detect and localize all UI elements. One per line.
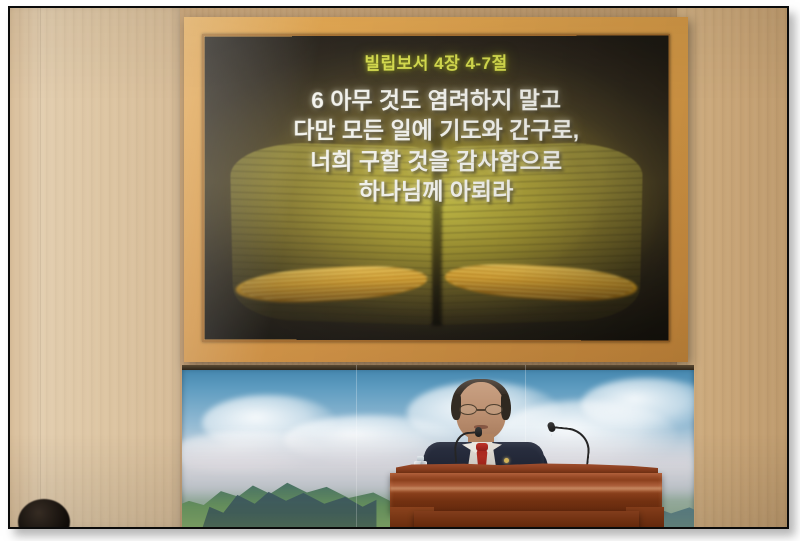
pulpit-highlight <box>390 487 662 492</box>
projection-screen-frame: 빌립보서 4장 4-7절 6 아무 것도 염려하지 말고 다만 모든 일에 기도… <box>184 17 688 362</box>
mural-panel-seam <box>356 365 357 527</box>
slide-text-block: 빌립보서 4장 4-7절 6 아무 것도 염려하지 말고 다만 모든 일에 기도… <box>205 36 669 341</box>
microphone-capsule <box>475 427 482 437</box>
slide-body-line: 6 아무 것도 염려하지 말고 <box>219 85 655 116</box>
slide-body-line: 너희 구할 것을 감사함으로 <box>219 146 655 176</box>
slide-body-line: 다만 모든 일에 기도와 간구로, <box>219 115 655 146</box>
speaker-figure <box>418 382 550 474</box>
lens-right <box>485 404 503 415</box>
glasses-bridge <box>477 409 485 411</box>
slide-scripture-body: 6 아무 것도 염려하지 말고 다만 모든 일에 기도와 간구로, 너희 구할 … <box>205 85 669 207</box>
slide-body-line: 하나님께 아뢰라 <box>219 176 655 206</box>
mural-top-rail <box>182 365 694 370</box>
wall-panel-seam <box>40 8 41 527</box>
wooden-pulpit <box>396 463 658 527</box>
eyeglasses-icon <box>459 404 503 415</box>
pulpit-base <box>414 511 639 527</box>
projection-screen-surface: 빌립보서 4장 4-7절 6 아무 것도 염려하지 말고 다만 모든 일에 기도… <box>205 36 669 341</box>
lens-left <box>459 404 477 415</box>
photograph-frame: 빌립보서 4장 4-7절 6 아무 것도 염려하지 말고 다만 모든 일에 기도… <box>8 6 789 529</box>
photograph: 빌립보서 4장 4-7절 6 아무 것도 염려하지 말고 다만 모든 일에 기도… <box>10 8 787 527</box>
wall-panel-left <box>10 8 180 527</box>
slide-scripture-reference: 빌립보서 4장 4-7절 <box>364 49 507 74</box>
